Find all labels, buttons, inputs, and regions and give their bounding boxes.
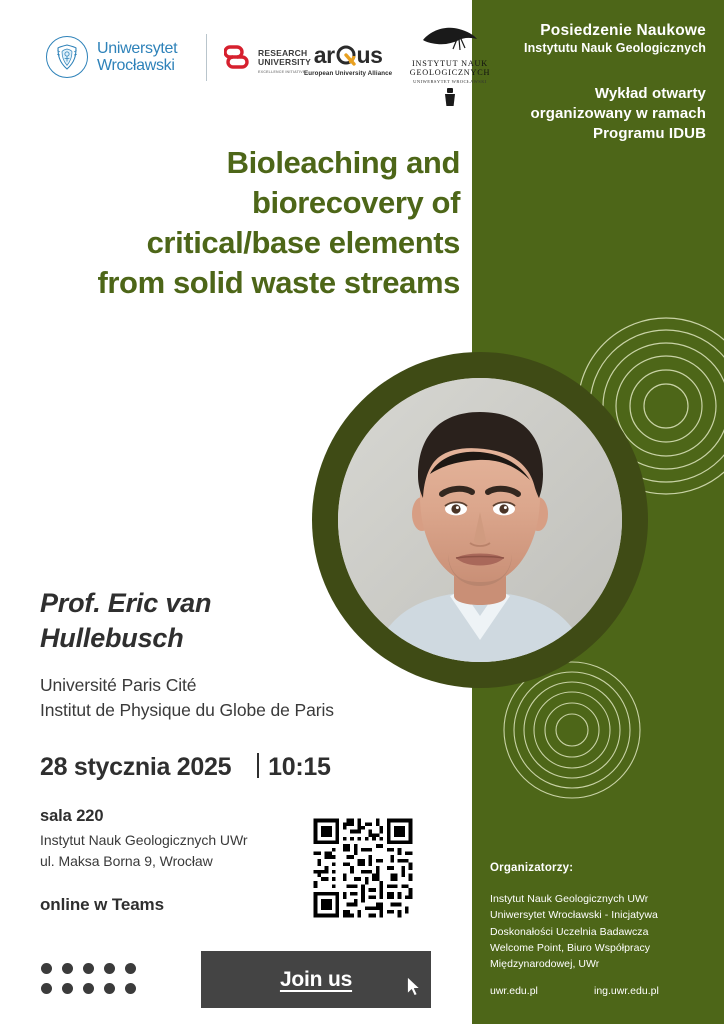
- uwr-logo-text: Uniwersytet Wrocławski: [97, 40, 177, 75]
- organizer-line-5: Międzynarodowej, UWr: [490, 956, 712, 972]
- link-uwr-edu-pl[interactable]: uwr.edu.pl: [490, 985, 594, 997]
- panel-header-line1: Posiedzenie Naukowe: [482, 22, 706, 40]
- mouse-cursor-icon: [406, 976, 422, 1003]
- ing-line3: UNIWERSYTET WROCŁAWSKI: [394, 79, 506, 84]
- panel-subheader-line1: Wykład otwarty: [482, 84, 706, 104]
- dot: [83, 963, 94, 974]
- geological-sample-icon: [442, 95, 458, 112]
- organizer-line-4: Welcome Point, Biuro Współpracy: [490, 940, 712, 956]
- logo-row: Uniwersytet Wrocławski RESEARCH UNIVERSI…: [46, 26, 466, 96]
- join-us-label: Join us: [280, 968, 352, 992]
- affiliation-line1: Université Paris Cité: [40, 673, 440, 698]
- title-line-4: from solid waste streams: [20, 263, 460, 303]
- event-date: 28 stycznia 2025: [40, 753, 231, 782]
- dot: [125, 983, 136, 994]
- dot: [41, 983, 52, 994]
- organizer-links: uwr.edu.pl ing.uwr.edu.pl: [490, 985, 712, 997]
- qr-code[interactable]: [310, 815, 416, 921]
- join-us-button[interactable]: Join us: [201, 951, 431, 1008]
- dot: [62, 963, 73, 974]
- title-line-2: biorecovery of: [20, 183, 460, 223]
- online-info: online w Teams: [40, 895, 164, 915]
- speaker-name-line2: Hullebusch: [40, 621, 300, 656]
- dot: [83, 983, 94, 994]
- speaker-name: Prof. Eric van Hullebusch: [40, 586, 300, 656]
- decorative-dots: [41, 963, 146, 1003]
- geological-institute-icon: [419, 39, 481, 56]
- link-ing-uwr-edu-pl[interactable]: ing.uwr.edu.pl: [594, 985, 659, 997]
- ing-line2: GEOLOGICZNYCH: [394, 68, 506, 77]
- affiliation-line2: Institut de Physique du Globe de Paris: [40, 698, 440, 723]
- logo-arqus: ar us European University Alliance: [304, 43, 392, 77]
- uwr-logo-line2: Wrocławski: [97, 57, 177, 74]
- event-datetime: 28 stycznia 2025 10:15: [40, 750, 331, 782]
- research-university-icon: [224, 44, 252, 79]
- panel-subheader-line3: Programu IDUB: [482, 124, 706, 144]
- arqus-logo-icon: ar us: [304, 43, 392, 67]
- panel-subheader: Wykład otwarty organizowany w ramach Pro…: [482, 84, 706, 143]
- avatar: [338, 378, 622, 662]
- title-line-1: Bioleaching and: [20, 143, 460, 183]
- arqus-word-us: us: [357, 44, 383, 67]
- venue-room: sala 220: [40, 807, 103, 826]
- organizers-title: Organizatorzy:: [490, 862, 712, 874]
- speaker-name-line1: Prof. Eric van: [40, 586, 300, 621]
- panel-header-line2: Instytutu Nauk Geologicznych: [482, 41, 706, 57]
- panel-subheader-line2: organizowany w ramach: [482, 104, 706, 124]
- title-line-3: critical/base elements: [20, 223, 460, 263]
- organizer-line-2: Uniwersytet Wrocławski - Inicjatywa: [490, 907, 712, 923]
- uwr-logo-line1: Uniwersytet: [97, 40, 177, 57]
- uwr-crest-icon: [46, 36, 88, 78]
- dot: [104, 983, 115, 994]
- venue-address: Instytut Nauk Geologicznych UWr ul. Maks…: [40, 830, 248, 872]
- dot: [41, 963, 52, 974]
- logo-divider: [206, 34, 207, 81]
- arqus-word-ar: ar: [314, 44, 335, 67]
- poster-root: Posiedzenie Naukowe Instytutu Nauk Geolo…: [0, 0, 724, 1024]
- logo-uniwersytet-wroclawski: Uniwersytet Wrocławski: [46, 36, 177, 78]
- organizer-line-1: Instytut Nauk Geologicznych UWr: [490, 891, 712, 907]
- datetime-divider: [257, 753, 259, 778]
- panel-header: Posiedzenie Naukowe Instytutu Nauk Geolo…: [482, 22, 706, 57]
- speaker-portrait: [312, 352, 648, 688]
- organizers-body: Instytut Nauk Geologicznych UWr Uniwersy…: [490, 891, 712, 972]
- dot: [104, 963, 115, 974]
- organizer-line-3: Doskonałości Uczelnia Badawcza: [490, 924, 712, 940]
- dot: [125, 963, 136, 974]
- logo-research-university: RESEARCH UNIVERSITY EXCELLENCE INITIATIV…: [224, 44, 311, 79]
- organizers-block: Organizatorzy: Instytut Nauk Geologiczny…: [490, 862, 712, 972]
- ing-line1: INSTYTUT NAUK: [394, 59, 506, 68]
- arqus-subtitle: European University Alliance: [304, 70, 392, 77]
- logo-geological-institute: INSTYTUT NAUK GEOLOGICZNYCH UNIWERSYTET …: [394, 26, 506, 113]
- dot: [62, 983, 73, 994]
- speaker-affiliation: Université Paris Cité Institut de Physiq…: [40, 673, 440, 723]
- venue-street: ul. Maksa Borna 9, Wrocław: [40, 851, 248, 872]
- page-title: Bioleaching and biorecovery of critical/…: [20, 143, 460, 303]
- venue-institute: Instytut Nauk Geologicznych UWr: [40, 830, 248, 851]
- event-time: 10:15: [268, 753, 330, 782]
